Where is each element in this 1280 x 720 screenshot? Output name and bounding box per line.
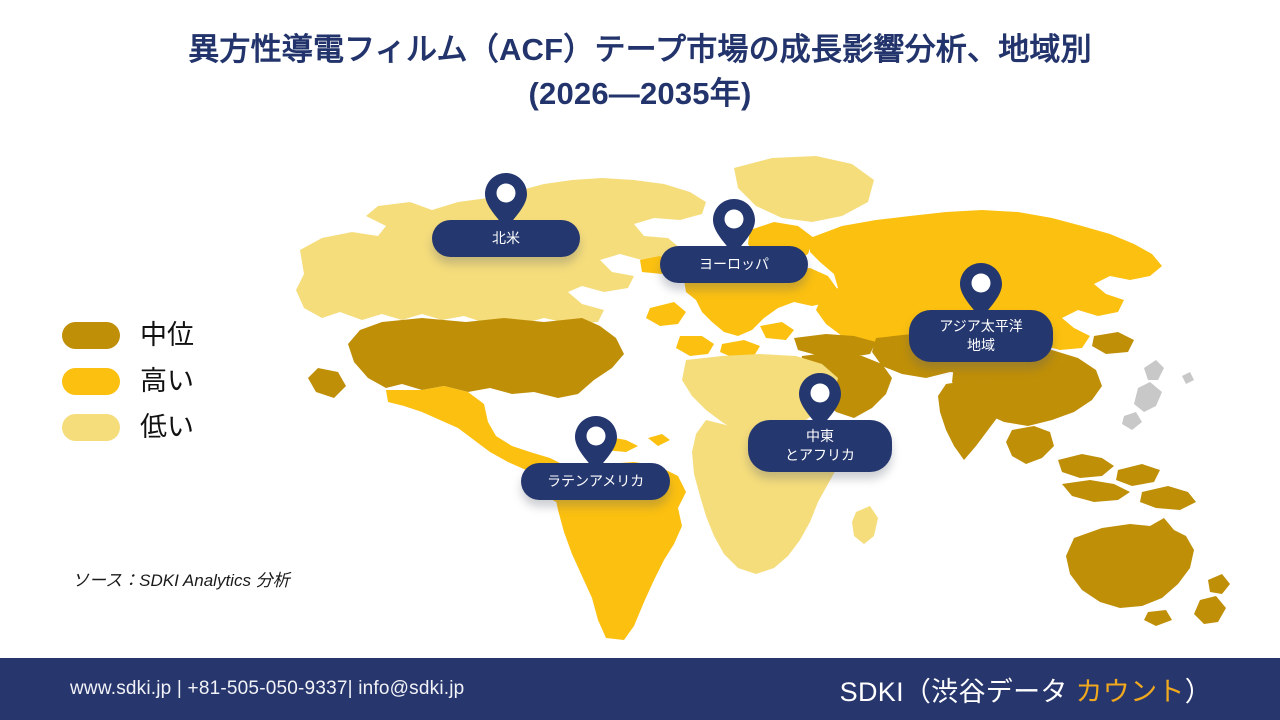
legend-item-low: 低い	[62, 404, 292, 450]
legend-item-medium: 中位	[62, 312, 292, 358]
map-marker-north-america[interactable]: 北米	[432, 172, 580, 257]
page-title-line-2: (2026—2035年)	[60, 72, 1220, 116]
region-new-zealand	[1194, 574, 1230, 624]
region-india	[938, 380, 1004, 460]
map-marker-asia-pacific[interactable]: アジア太平洋 地域	[909, 262, 1053, 362]
map-legend: 中位 高い 低い	[62, 312, 292, 450]
region-gray-islands	[1182, 372, 1194, 384]
legend-swatch-low	[62, 414, 120, 441]
source-note: ソース：SDKI Analytics 分析	[72, 566, 290, 591]
footer-brand-prefix: SDKI（渋谷データ	[840, 677, 1076, 707]
slide-canvas: 異方性導電フィルム（ACF）テープ市場の成長影響分析、地域別 (2026—203…	[0, 0, 1280, 720]
page-title-line-1: 異方性導電フィルム（ACF）テープ市場の成長影響分析、地域別	[188, 32, 1092, 67]
footer-contact-info[interactable]: www.sdki.jp | +81-505-050-9337| info@sdk…	[70, 678, 464, 700]
legend-label-high: 高い	[140, 368, 194, 395]
map-pin-icon	[574, 415, 618, 473]
region-australia	[1066, 518, 1194, 626]
footer-brand-accent: カウント	[1075, 677, 1184, 707]
page-title: 異方性導電フィルム（ACF）テープ市場の成長影響分析、地域別 (2026—203…	[0, 28, 1280, 116]
map-pin-icon	[798, 372, 842, 430]
map-pin-icon	[484, 172, 528, 230]
legend-swatch-medium	[62, 322, 120, 349]
legend-label-low: 低い	[140, 414, 194, 441]
map-marker-europe[interactable]: ヨーロッパ	[660, 198, 808, 283]
legend-label-medium: 中位	[140, 322, 194, 349]
map-marker-middle-east-africa[interactable]: 中東 とアフリカ	[748, 372, 892, 472]
world-map: 北米 ヨーロッパ アジア太平洋 地域 中東 とアフリカ	[282, 140, 1242, 640]
region-madagascar	[852, 506, 878, 544]
footer-brand: SDKI（渋谷データ カウント）	[840, 670, 1212, 709]
map-pin-icon	[712, 198, 756, 256]
legend-swatch-high	[62, 368, 120, 395]
region-southeast-asia	[1006, 426, 1160, 486]
region-usa	[308, 318, 624, 398]
footer-brand-suffix: ）	[1185, 677, 1212, 707]
legend-item-high: 高い	[62, 358, 292, 404]
region-japan	[1122, 360, 1164, 430]
map-marker-latin-america[interactable]: ラテンアメリカ	[521, 415, 670, 500]
map-pin-icon	[959, 262, 1003, 320]
footer-bar: www.sdki.jp | +81-505-050-9337| info@sdk…	[0, 658, 1280, 720]
